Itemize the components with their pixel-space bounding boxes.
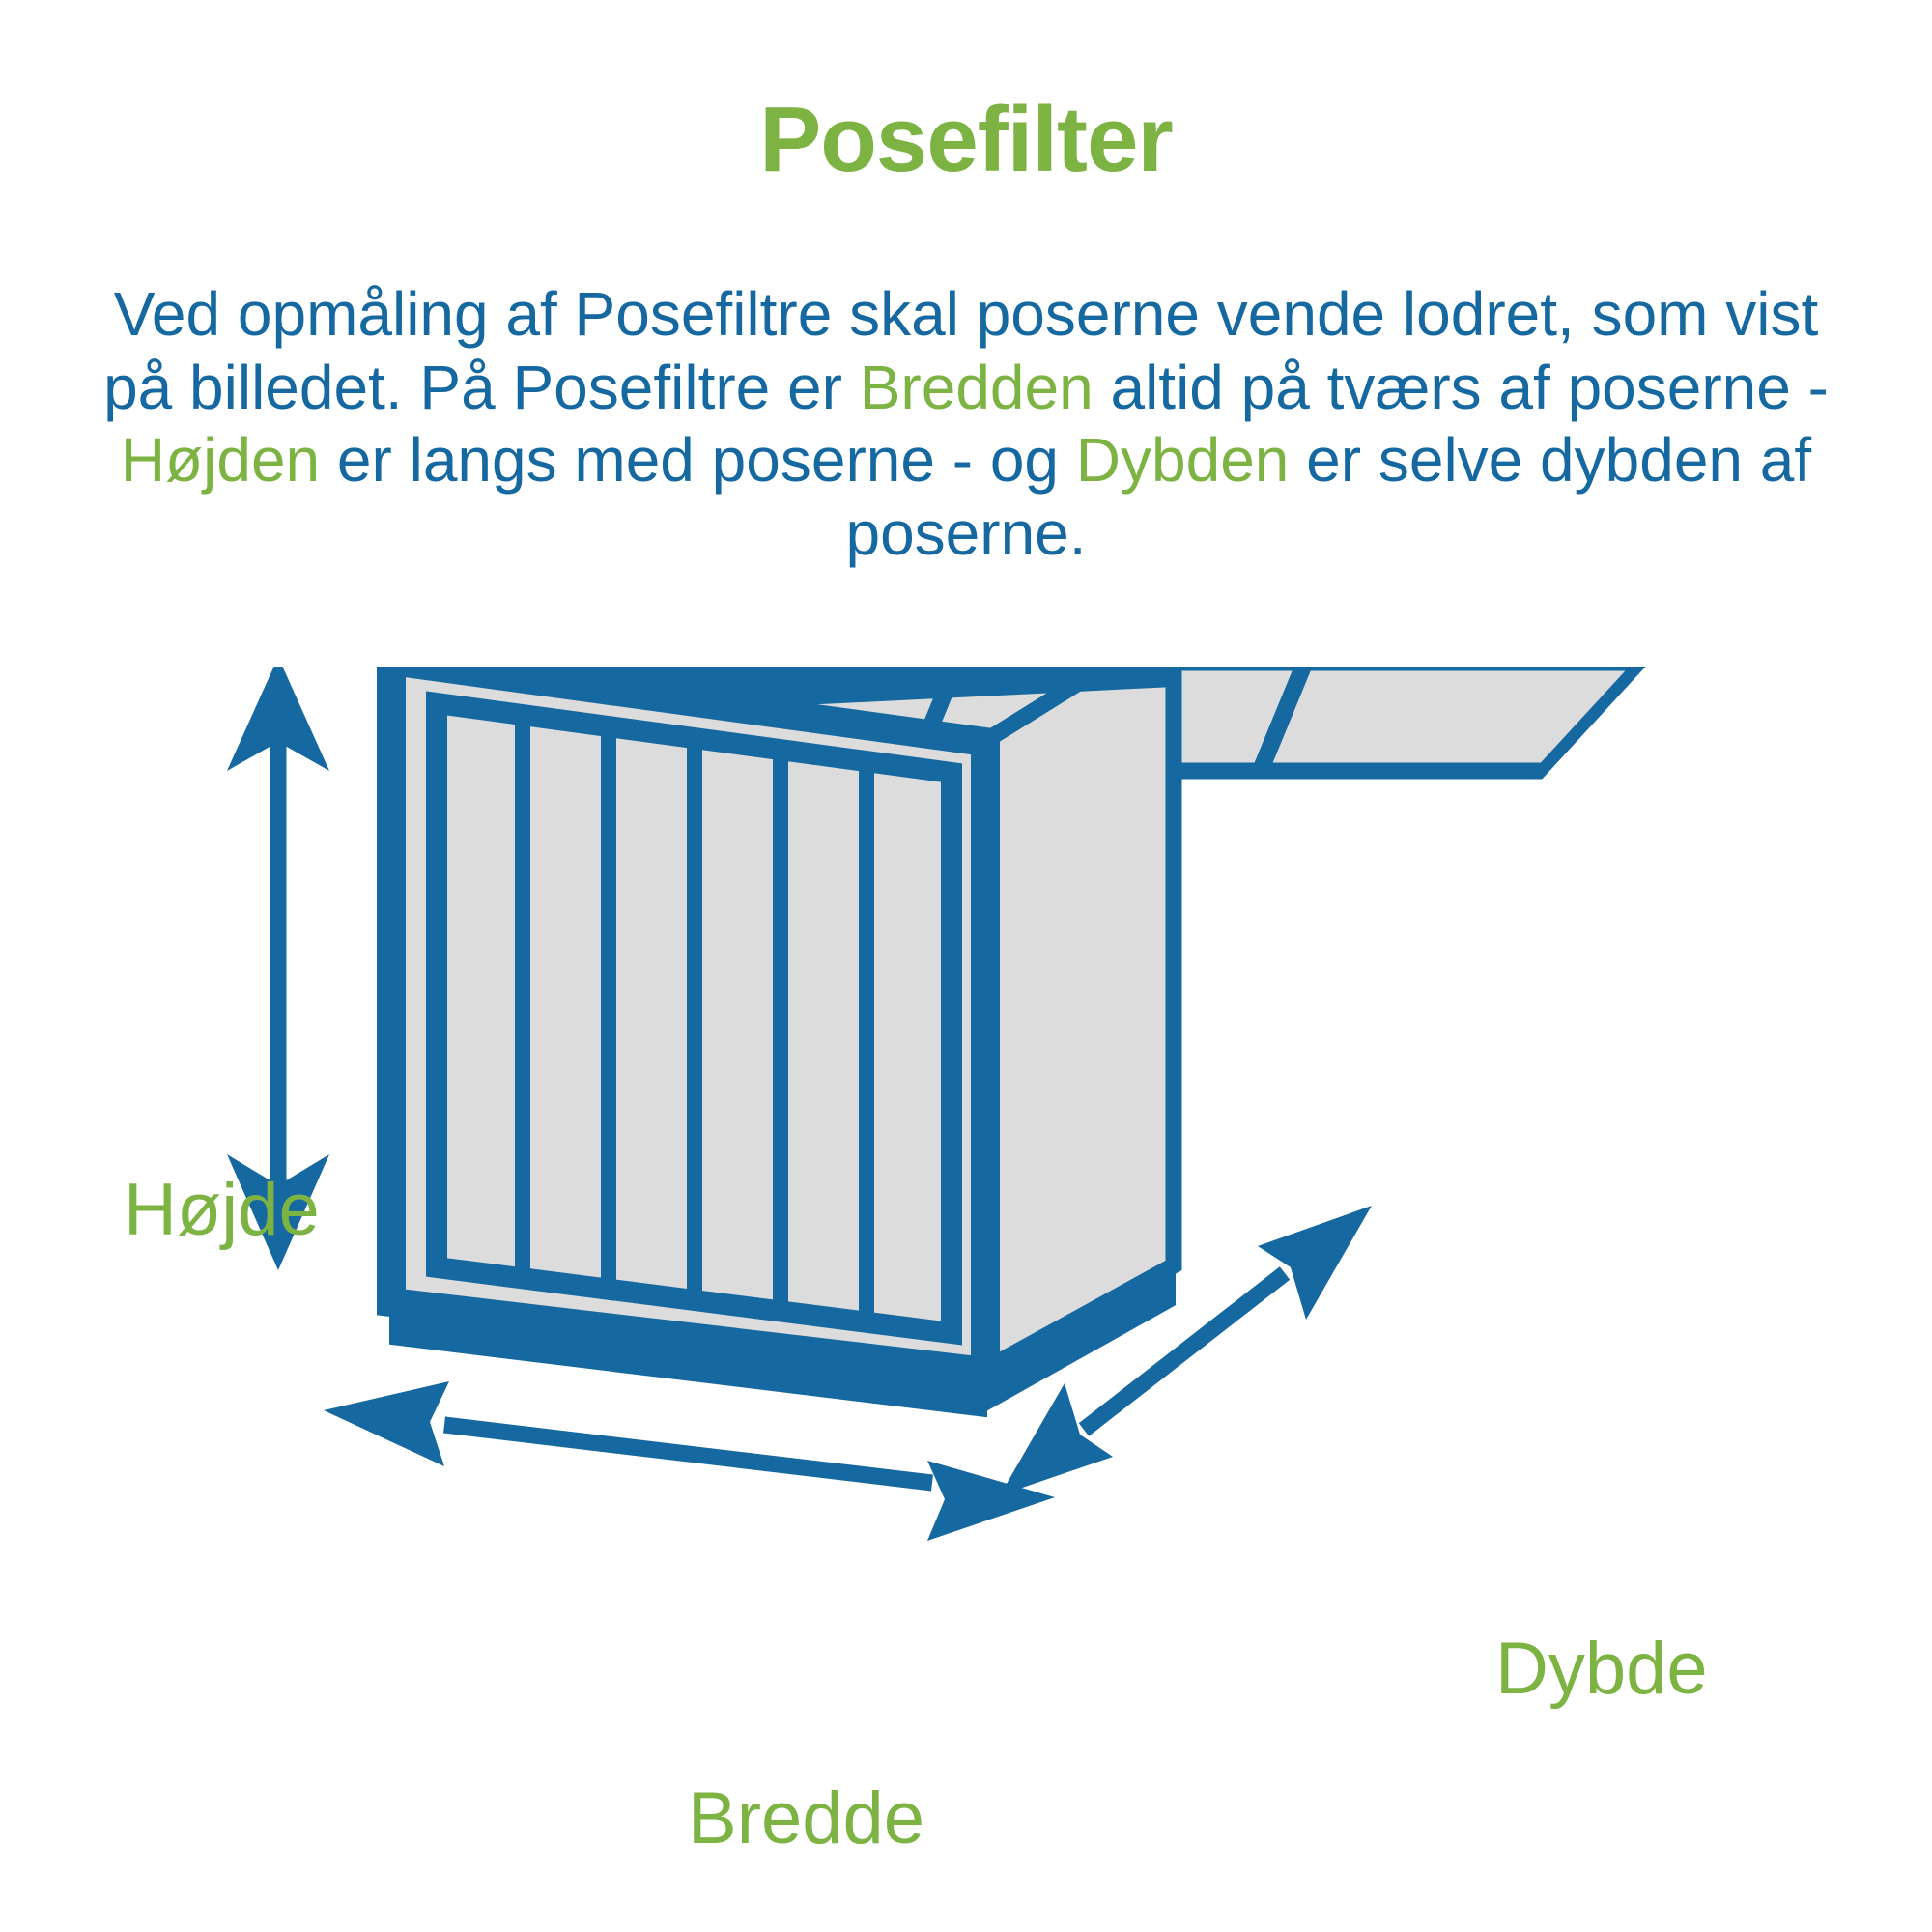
- intro-highlight-bredden: Bredden: [860, 353, 1094, 422]
- filter-diagram: [58, 667, 1893, 1922]
- bag-filter-body: [336, 667, 1641, 1415]
- intro-highlight-hojden: Højden: [121, 425, 320, 495]
- depth-label: Dybde: [1495, 1633, 1708, 1706]
- height-label: Højde: [124, 1174, 320, 1247]
- intro-text-part-3: er langs med poserne - og: [320, 425, 1076, 495]
- intro-paragraph: Ved opmåling af Posefiltre skal poserne …: [87, 278, 1845, 570]
- intro-text-part-2: altid på tværs af poserne -: [1094, 353, 1829, 422]
- filter-right-side-panel: [980, 667, 1174, 1372]
- depth-arrowhead-downleft: [1000, 1383, 1113, 1495]
- depth-arrowhead-upright: [1258, 1206, 1372, 1320]
- poster-page: Posefilter Ved opmåling af Posefiltre sk…: [0, 0, 1932, 1932]
- intro-highlight-dybden: Dybden: [1076, 425, 1290, 495]
- page-title: Posefilter: [0, 89, 1932, 191]
- width-label: Bredde: [688, 1782, 924, 1856]
- width-arrowhead-left: [324, 1381, 449, 1466]
